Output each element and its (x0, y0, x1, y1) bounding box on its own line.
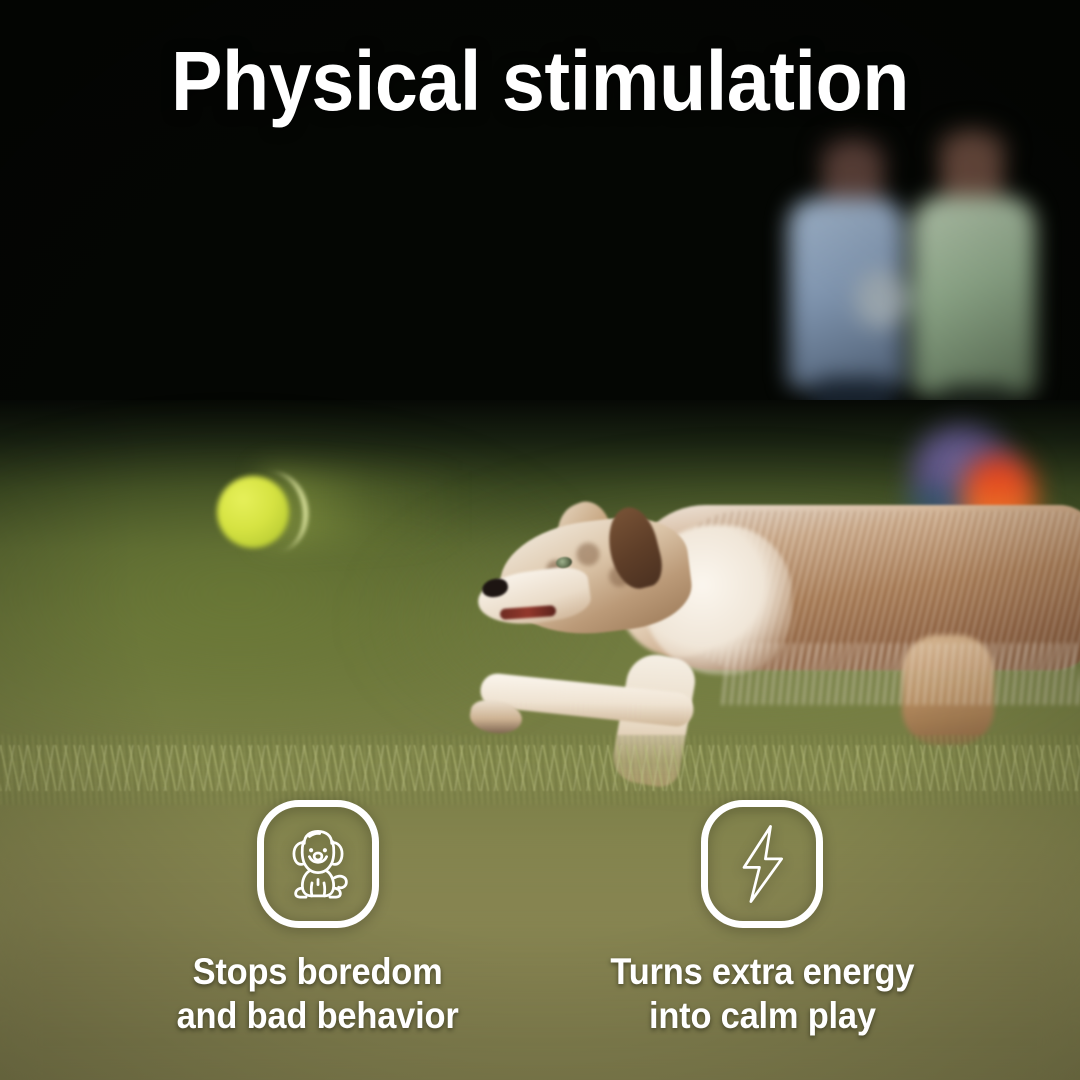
feature-item-boredom: Stops boredom and bad behavior (108, 800, 528, 1037)
lightning-icon-badge (701, 800, 823, 928)
person-left-arm (856, 270, 908, 328)
page-title: Physical stimulation (43, 38, 1037, 125)
dog-icon-badge (257, 800, 379, 928)
feature-label-energy: Turns extra energy into calm play (610, 950, 914, 1037)
feature-item-energy: Turns extra energy into calm play (552, 800, 972, 1037)
dog-icon (275, 821, 361, 907)
poster-canvas: Physical stimulation (0, 0, 1080, 1080)
person-right-top (912, 196, 1036, 396)
feature-row: Stops boredom and bad behavior Turns ext… (108, 800, 972, 1037)
lightning-bolt-icon (723, 823, 801, 905)
feature-label-boredom: Stops boredom and bad behavior (177, 950, 459, 1037)
